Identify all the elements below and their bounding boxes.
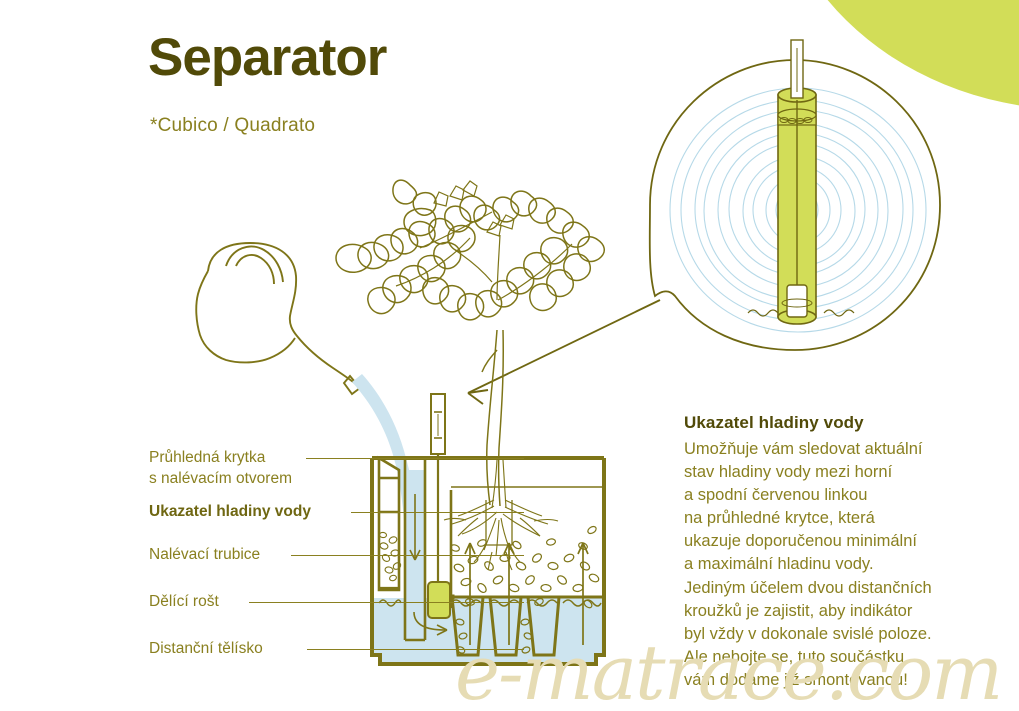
info-heading: Ukazatel hladiny vody: [684, 413, 1004, 433]
info-line: stav hladiny vody mezi horní: [684, 461, 1004, 484]
page-title: Separator: [148, 30, 386, 86]
leader-line-1: [306, 458, 524, 459]
info-line: byl vždy v dokonale svislé poloze.: [684, 623, 1004, 646]
info-body: Umožňuje vám sledovat aktuální stav hlad…: [684, 438, 1004, 692]
leader-line-3: [291, 555, 524, 556]
water-level-indicator-detail: [650, 40, 940, 350]
callout-label-line2: s nalévacím otvorem: [149, 469, 379, 490]
indicator-tube-detail: [748, 40, 854, 324]
info-line: Jediným účelem dvou distančních: [684, 577, 1004, 600]
info-line: a spodní červenou linkou: [684, 484, 1004, 507]
transparent-cover: [379, 458, 399, 590]
leader-line-4: [249, 602, 524, 603]
callout-transparent-cover: Průhledná krytka s nalévacím otvorem: [149, 448, 379, 490]
page-subtitle: *Cubico / Quadrato: [150, 115, 315, 137]
watering-can-illustration: [196, 243, 360, 394]
callout-label-column: Průhledná krytka s nalévacím otvorem Uka…: [149, 448, 379, 670]
callout-distance-body: Distanční tělísko: [149, 639, 379, 660]
info-line: vám dodáme již smontovanou!: [684, 669, 1004, 692]
leader-line-2: [351, 512, 524, 513]
info-panel: Ukazatel hladiny vody Umožňuje vám sledo…: [684, 413, 1004, 692]
info-line: Umožňuje vám sledovat aktuální: [684, 438, 1004, 461]
leader-line-5: [307, 649, 524, 650]
callout-label-line1: Ukazatel hladiny vody: [149, 502, 379, 523]
callout-water-level-indicator: Ukazatel hladiny vody: [149, 502, 379, 523]
callout-dividing-grate: Dělící rošt: [149, 592, 379, 613]
detail-pointer-arrow: [468, 300, 660, 404]
callout-filling-tube: Nalévací trubice: [149, 545, 379, 566]
plant-roots: [444, 460, 558, 570]
poster-page: Separator *Cubico / Quadrato Průhledná k…: [0, 0, 1019, 711]
info-line: kroužků je zajistit, aby indikátor: [684, 600, 1004, 623]
info-line: na průhledné krytce, která: [684, 507, 1004, 530]
info-line: a maximální hladinu vody.: [684, 553, 1004, 576]
indicator-rod-in-pot: [428, 394, 450, 618]
info-line: ukazuje doporučenou minimální: [684, 530, 1004, 553]
info-line: Ale nebojte se, tuto součástku: [684, 646, 1004, 669]
